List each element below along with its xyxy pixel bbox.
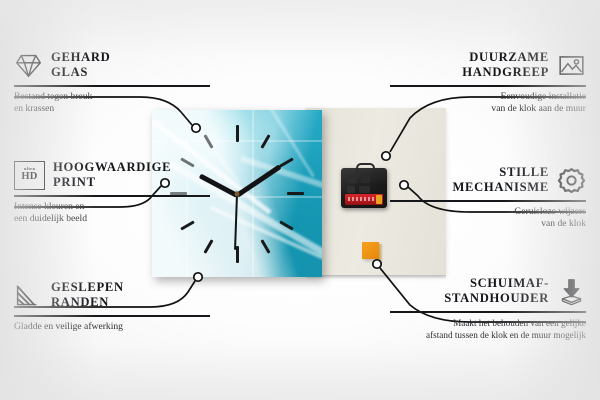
feature-schuimafstandhouder: SCHUIMAF- STANDHOUDER Maakt het behouden… bbox=[390, 274, 586, 341]
divider bbox=[14, 195, 210, 197]
connector-dot-duurzame-handgreep bbox=[382, 152, 390, 160]
divider bbox=[390, 85, 586, 87]
connector-dot-schuimafstandhouder bbox=[373, 260, 381, 268]
feature-subtitle: Maakt het behouden van een gelijke afsta… bbox=[390, 317, 586, 341]
feature-header: GEHARD GLAS bbox=[14, 48, 210, 82]
feature-title: DUURZAME HANDGREEP bbox=[462, 50, 549, 80]
feature-gehard-glas: GEHARD GLAS Bestand tegen breuk en krass… bbox=[14, 48, 210, 116]
feature-title: HOOGWAARDIGE PRINT bbox=[53, 160, 171, 190]
divider bbox=[390, 200, 586, 202]
feature-header: ultra HD HOOGWAARDIGE PRINT bbox=[14, 158, 210, 192]
gear-icon bbox=[557, 166, 586, 195]
infographic-canvas: GEHARD GLAS Bestand tegen breuk en krass… bbox=[0, 0, 600, 400]
feature-title: STILLE MECHANISME bbox=[452, 165, 549, 195]
feature-hoogwaardige-print: ultra HD HOOGWAARDIGE PRINT Intense kleu… bbox=[14, 158, 210, 226]
divider bbox=[14, 85, 210, 87]
feature-title: SCHUIMAF- STANDHOUDER bbox=[444, 276, 549, 306]
diamond-icon bbox=[14, 51, 43, 80]
feature-header: SCHUIMAF- STANDHOUDER bbox=[390, 274, 586, 308]
feature-geslepen-randen: GESLEPEN RANDEN Gladde en veilige afwerk… bbox=[14, 278, 210, 333]
feature-title: GEHARD GLAS bbox=[51, 50, 110, 80]
feature-header: STILLE MECHANISME bbox=[390, 163, 586, 197]
bevelled-edges-icon bbox=[14, 281, 43, 310]
ultra-hd-icon: ultra HD bbox=[14, 161, 45, 190]
feature-subtitle: Gladde en veilige afwerking bbox=[14, 321, 210, 334]
feature-subtitle: Geruisloze wijzers van de klok bbox=[390, 206, 586, 231]
feature-title: GESLEPEN RANDEN bbox=[51, 280, 124, 310]
feature-stille-mechanisme: STILLE MECHANISME Geruisloze wijzers van… bbox=[390, 163, 586, 231]
connector-dot-gehard-glas bbox=[192, 124, 200, 132]
feature-subtitle: Eenvoudige installatie van de klok aan d… bbox=[390, 91, 586, 116]
picture-frame-icon bbox=[557, 51, 586, 80]
feature-subtitle: Bestand tegen breuk en krassen bbox=[14, 91, 210, 116]
down-arrow-pad-icon bbox=[557, 277, 586, 306]
ultra-hd-icon-main-text: HD bbox=[21, 172, 37, 183]
feature-header: DUURZAME HANDGREEP bbox=[390, 48, 586, 82]
feature-duurzame-handgreep: DUURZAME HANDGREEP Eenvoudige installati… bbox=[390, 48, 586, 116]
divider bbox=[390, 311, 586, 313]
feature-header: GESLEPEN RANDEN bbox=[14, 278, 210, 312]
feature-subtitle: Intense kleuren en een duidelijk beeld bbox=[14, 201, 210, 226]
divider bbox=[14, 315, 210, 317]
